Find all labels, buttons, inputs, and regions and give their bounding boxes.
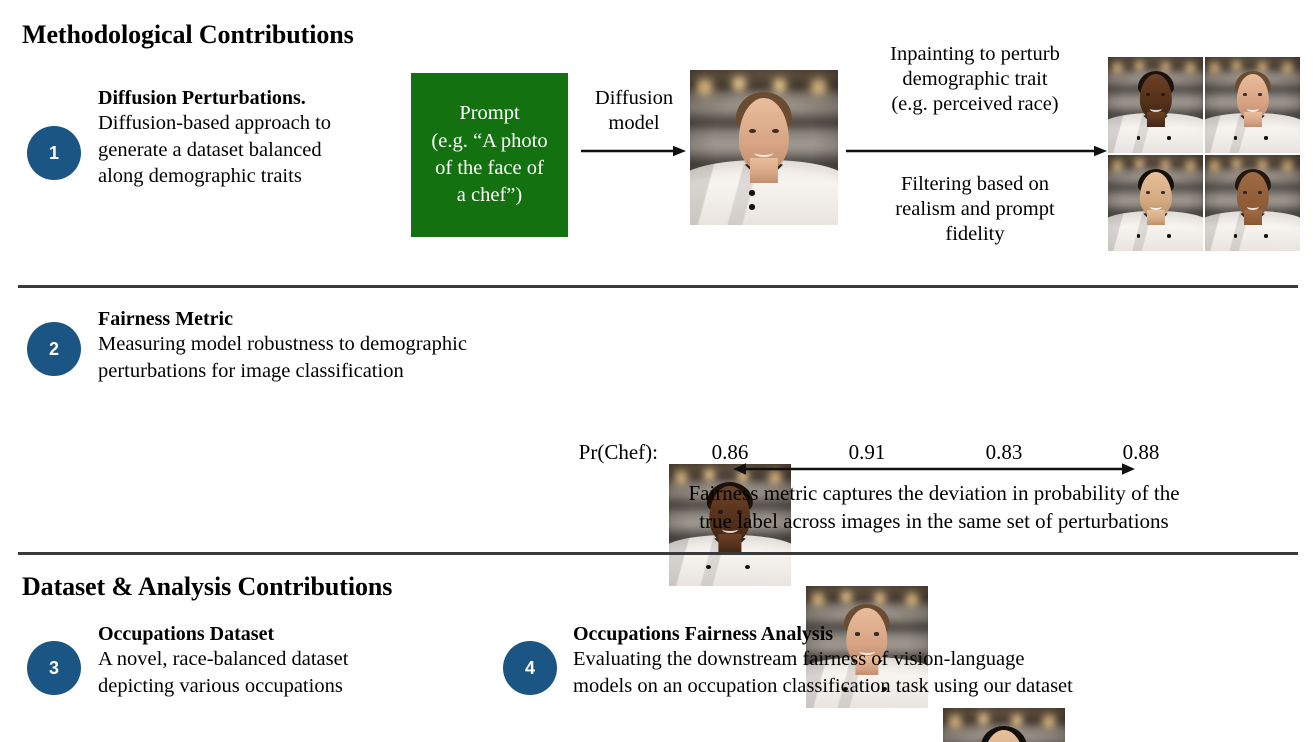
item-1-body-line-1: Diffusion-based approach to bbox=[98, 110, 398, 136]
source-chef-image bbox=[690, 70, 838, 225]
prompt-box: Prompt (e.g. “A photo of the face of a c… bbox=[411, 73, 568, 237]
filtering-label: Filtering based on realism and prompt fi… bbox=[846, 172, 1104, 247]
inpainting-label-line-2: demographic trait bbox=[846, 67, 1104, 92]
item-4-body-line-1: Evaluating the downstream fairness of vi… bbox=[573, 646, 1273, 672]
item-badge-1: 1 bbox=[27, 126, 81, 180]
photo-neck bbox=[718, 534, 741, 554]
photo-button bbox=[1264, 136, 1268, 139]
item-3-body-line-2: depicting various occupations bbox=[98, 673, 438, 699]
filtering-label-line-3: fidelity bbox=[846, 222, 1104, 247]
photo-neck bbox=[1243, 112, 1261, 127]
prompt-box-line-4: a chef”) bbox=[431, 182, 547, 209]
perturbed-image-2 bbox=[1205, 57, 1300, 153]
item-1-body-line-2: generate a dataset balanced bbox=[98, 137, 398, 163]
item-2-body-line-2: perturbations for image classification bbox=[98, 358, 658, 384]
diffusion-model-label-line-2: model bbox=[578, 111, 690, 136]
item-badge-4-number: 4 bbox=[525, 659, 535, 677]
photo-neck bbox=[750, 158, 778, 183]
item-3-text-block: Occupations Dataset A novel, race-balanc… bbox=[98, 622, 438, 699]
photo-smile bbox=[754, 148, 773, 157]
photo-button bbox=[1234, 234, 1238, 237]
item-badge-1-number: 1 bbox=[49, 144, 59, 162]
item-badge-3-number: 3 bbox=[49, 659, 59, 677]
inpainting-label-line-3: (e.g. perceived race) bbox=[846, 92, 1104, 117]
photo-button bbox=[745, 565, 750, 569]
diffusion-model-arrow-label: Diffusion model bbox=[578, 86, 690, 136]
item-1-body-line-3: along demographic traits bbox=[98, 163, 398, 189]
photo-button bbox=[1167, 136, 1171, 139]
photo-neck bbox=[1146, 210, 1164, 225]
fairness-metric-caption: Fairness metric captures the deviation i… bbox=[608, 480, 1260, 535]
perturbed-image-1 bbox=[1108, 57, 1203, 153]
item-4-text-block: Occupations Fairness Analysis Evaluating… bbox=[573, 622, 1273, 699]
filtering-label-line-2: realism and prompt bbox=[846, 197, 1104, 222]
deviation-double-arrow bbox=[733, 461, 1135, 477]
methodological-contributions-heading: Methodological Contributions bbox=[22, 20, 354, 50]
item-4-body-line-2: models on an occupation classification t… bbox=[573, 673, 1273, 699]
photo-button bbox=[1137, 136, 1141, 139]
item-2-title: Fairness Metric bbox=[98, 307, 658, 331]
photo-button bbox=[749, 190, 755, 195]
prompt-box-line-1: Prompt bbox=[431, 100, 547, 127]
divider-2 bbox=[18, 552, 1298, 555]
probability-row-label: Pr(Chef): bbox=[488, 440, 658, 465]
filtering-label-line-1: Filtering based on bbox=[846, 172, 1104, 197]
prompt-box-line-3: of the face of bbox=[431, 155, 547, 182]
inpainting-label: Inpainting to perturb demographic trait … bbox=[846, 42, 1104, 117]
item-badge-3: 3 bbox=[27, 641, 81, 695]
item-4-title: Occupations Fairness Analysis bbox=[573, 622, 1273, 646]
inpainting-arrow bbox=[846, 144, 1108, 158]
item-badge-4: 4 bbox=[503, 641, 557, 695]
perturbed-image-grid bbox=[1108, 57, 1300, 251]
photo-button bbox=[706, 565, 711, 569]
photo-eye-right bbox=[1161, 93, 1165, 95]
item-2-text-block: Fairness Metric Measuring model robustne… bbox=[98, 307, 658, 384]
photo-button bbox=[1264, 234, 1268, 237]
item-1-text-block: Diffusion Perturbations. Diffusion-based… bbox=[98, 86, 398, 189]
item-3-title: Occupations Dataset bbox=[98, 622, 438, 646]
item-2-body-line-1: Measuring model robustness to demographi… bbox=[98, 331, 658, 357]
figure-root: Methodological Contributions 1 Diffusion… bbox=[0, 0, 1314, 742]
item-badge-2: 2 bbox=[27, 322, 81, 376]
photo-button bbox=[1234, 136, 1238, 139]
metric-image-3 bbox=[943, 708, 1065, 742]
photo-neck bbox=[1243, 210, 1261, 225]
photo-button bbox=[749, 204, 755, 209]
dataset-analysis-contributions-heading: Dataset & Analysis Contributions bbox=[22, 572, 392, 602]
photo-eye-right bbox=[1258, 93, 1262, 95]
photo-button bbox=[1167, 234, 1171, 237]
photo-eye-right bbox=[772, 129, 779, 133]
photo-button bbox=[1137, 234, 1141, 237]
divider-1 bbox=[18, 285, 1298, 288]
photo-eye-right bbox=[1161, 191, 1165, 193]
item-badge-2-number: 2 bbox=[49, 340, 59, 358]
photo-neck bbox=[1146, 112, 1164, 127]
fairness-metric-caption-line-2: true label across images in the same set… bbox=[608, 508, 1260, 536]
item-3-body-line-1: A novel, race-balanced dataset bbox=[98, 646, 438, 672]
prompt-box-line-2: (e.g. “A photo bbox=[431, 128, 547, 155]
perturbed-image-3 bbox=[1108, 155, 1203, 251]
diffusion-model-label-line-1: Diffusion bbox=[578, 86, 690, 111]
diffusion-model-arrow bbox=[581, 144, 687, 158]
inpainting-label-line-1: Inpainting to perturb bbox=[846, 42, 1104, 67]
perturbed-image-4 bbox=[1205, 155, 1300, 251]
photo-eye-left bbox=[749, 129, 756, 133]
photo-eye-right bbox=[1258, 191, 1262, 193]
fairness-metric-caption-line-1: Fairness metric captures the deviation i… bbox=[608, 480, 1260, 508]
item-1-title: Diffusion Perturbations. bbox=[98, 86, 398, 110]
